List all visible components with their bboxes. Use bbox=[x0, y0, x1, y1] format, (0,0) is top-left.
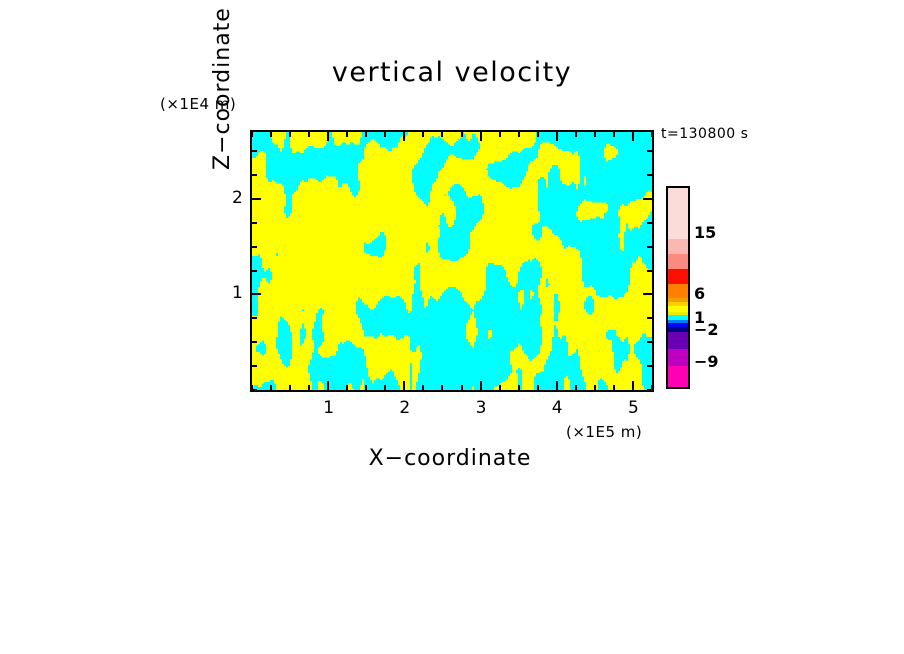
colorbar[interactable] bbox=[666, 186, 690, 389]
y-tick-mark bbox=[252, 317, 257, 319]
x-tick-mark bbox=[422, 132, 424, 137]
y-tick-mark bbox=[252, 293, 261, 295]
contour-plot-area[interactable] bbox=[250, 130, 654, 392]
x-tick-mark bbox=[384, 385, 386, 390]
y-tick-label: 2 bbox=[232, 188, 243, 208]
x-axis-unit-label: (×1E5 m) bbox=[566, 423, 642, 441]
x-tick-label: 2 bbox=[399, 398, 410, 418]
page-title: vertical velocity bbox=[0, 57, 904, 88]
x-tick-mark bbox=[518, 385, 520, 390]
y-tick-mark bbox=[647, 270, 652, 272]
colorbar-tick-label: −9 bbox=[694, 352, 719, 371]
colorbar-tick-label: 6 bbox=[694, 284, 705, 303]
x-tick-mark bbox=[251, 132, 253, 137]
x-tick-label: 4 bbox=[552, 398, 563, 418]
x-tick-mark bbox=[270, 132, 272, 137]
x-tick-mark bbox=[537, 385, 539, 390]
x-tick-mark bbox=[575, 385, 577, 390]
colorbar-band bbox=[668, 254, 688, 269]
y-tick-mark bbox=[647, 150, 652, 152]
x-tick-mark bbox=[556, 132, 558, 141]
x-tick-mark bbox=[327, 381, 329, 390]
y-tick-mark bbox=[252, 222, 257, 224]
x-tick-mark bbox=[384, 132, 386, 137]
x-tick-mark bbox=[308, 385, 310, 390]
y-tick-mark bbox=[647, 246, 652, 248]
colorbar-band bbox=[668, 188, 688, 239]
x-tick-mark bbox=[441, 132, 443, 137]
y-tick-mark bbox=[647, 222, 652, 224]
x-tick-mark bbox=[613, 385, 615, 390]
x-tick-mark bbox=[480, 381, 482, 390]
y-tick-mark bbox=[647, 317, 652, 319]
x-tick-mark bbox=[346, 132, 348, 137]
x-tick-mark bbox=[499, 132, 501, 137]
x-tick-mark bbox=[594, 385, 596, 390]
y-tick-mark bbox=[252, 365, 257, 367]
y-tick-mark bbox=[252, 174, 257, 176]
x-tick-mark bbox=[346, 385, 348, 390]
colorbar-band bbox=[668, 349, 688, 366]
colorbar-band bbox=[668, 366, 688, 387]
y-tick-mark bbox=[643, 198, 652, 200]
x-tick-mark bbox=[365, 385, 367, 390]
y-tick-mark bbox=[252, 246, 257, 248]
x-tick-mark bbox=[461, 132, 463, 137]
y-tick-mark bbox=[647, 389, 652, 391]
colorbar-band bbox=[668, 332, 688, 349]
x-tick-mark bbox=[632, 381, 634, 390]
time-annotation: t=130800 s bbox=[661, 126, 748, 142]
x-tick-mark bbox=[651, 132, 653, 137]
x-tick-mark bbox=[499, 385, 501, 390]
x-tick-mark bbox=[632, 132, 634, 141]
x-tick-mark bbox=[613, 132, 615, 137]
colorbar-tick-label: −2 bbox=[694, 320, 719, 339]
x-tick-mark bbox=[556, 381, 558, 390]
x-tick-mark bbox=[327, 132, 329, 141]
x-tick-mark bbox=[441, 385, 443, 390]
x-tick-mark bbox=[518, 132, 520, 137]
x-tick-mark bbox=[289, 385, 291, 390]
x-tick-mark bbox=[575, 132, 577, 137]
colorbar-band bbox=[668, 269, 688, 284]
y-tick-mark bbox=[252, 198, 261, 200]
x-axis-title: X−coordinate bbox=[250, 446, 650, 471]
x-tick-label: 3 bbox=[476, 398, 487, 418]
x-tick-label: 5 bbox=[628, 398, 639, 418]
y-tick-mark bbox=[252, 341, 257, 343]
y-tick-mark bbox=[643, 293, 652, 295]
y-tick-mark bbox=[252, 270, 257, 272]
x-tick-mark bbox=[308, 132, 310, 137]
vertical-velocity-field bbox=[252, 132, 652, 390]
y-axis-title: Z−coordinate bbox=[210, 7, 235, 170]
x-tick-mark bbox=[422, 385, 424, 390]
x-tick-mark bbox=[270, 385, 272, 390]
x-tick-mark bbox=[403, 132, 405, 141]
y-tick-mark bbox=[647, 174, 652, 176]
y-tick-label: 1 bbox=[232, 283, 243, 303]
x-tick-mark bbox=[480, 132, 482, 141]
x-tick-mark bbox=[289, 132, 291, 137]
x-tick-mark bbox=[365, 132, 367, 137]
x-tick-mark bbox=[537, 132, 539, 137]
colorbar-band bbox=[668, 239, 688, 254]
figure-canvas: vertical velocity (×1E4 m) t=130800 s Z−… bbox=[0, 0, 904, 654]
x-tick-mark bbox=[461, 385, 463, 390]
colorbar-band bbox=[668, 284, 688, 299]
y-tick-mark bbox=[647, 365, 652, 367]
x-tick-mark bbox=[403, 381, 405, 390]
x-tick-mark bbox=[594, 132, 596, 137]
colorbar-tick-label: 15 bbox=[694, 223, 716, 242]
y-tick-mark bbox=[647, 341, 652, 343]
y-tick-mark bbox=[252, 150, 257, 152]
y-tick-mark bbox=[252, 389, 257, 391]
x-tick-label: 1 bbox=[323, 398, 334, 418]
